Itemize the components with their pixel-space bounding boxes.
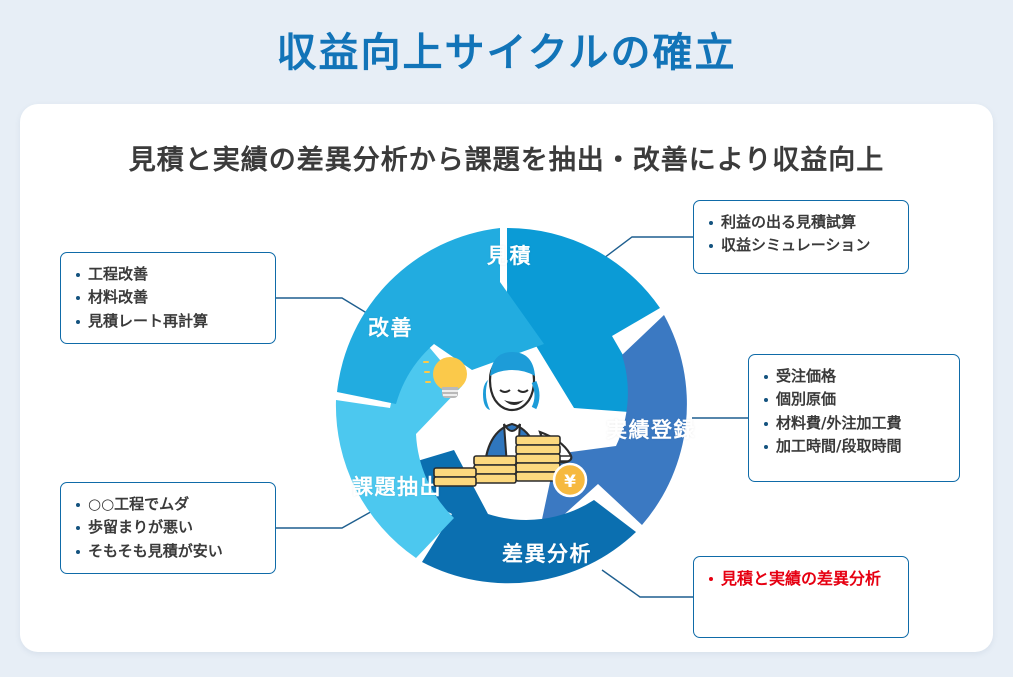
list-item: 利益の出る見積試算 xyxy=(708,211,894,234)
list-item: ○○工程でムダ xyxy=(75,493,261,516)
yen-symbol: ¥ xyxy=(564,472,576,492)
cycle-diagram: 見積 実績登録 差異分析 課題抽出 改善 xyxy=(312,218,702,608)
cycle-label-improve: 改善 xyxy=(368,312,413,342)
list-item: 見積と実績の差異分析 xyxy=(708,567,894,592)
extract-callout: ○○工程でムダ 歩留まりが悪い そもそも見積が安い xyxy=(60,482,276,574)
cycle-label-variance: 差異分析 xyxy=(502,538,592,568)
list-item: 工程改善 xyxy=(75,263,261,286)
record-callout: 受注価格 個別原価 材料費/外注加工費 加工時間/段取時間 xyxy=(748,354,960,482)
list-item: 材料費/外注加工費 xyxy=(763,412,945,435)
cycle-label-record: 実績登録 xyxy=(606,414,696,444)
content-card: 見積と実績の差異分析から課題を抽出・改善により収益向上 見積 実績登録 差異分析… xyxy=(20,104,993,652)
improve-callout: 工程改善 材料改善 見積レート再計算 xyxy=(60,252,276,344)
page-title: 収益向上サイクルの確立 xyxy=(0,20,1013,78)
list-item: 材料改善 xyxy=(75,286,261,309)
list-item: 加工時間/段取時間 xyxy=(763,435,945,458)
list-item: そもそも見積が安い xyxy=(75,540,261,563)
lightbulb-icon xyxy=(424,357,467,398)
list-item: 歩留まりが悪い xyxy=(75,516,261,539)
variance-callout: 見積と実績の差異分析 xyxy=(693,556,909,638)
list-item: 収益シミュレーション xyxy=(708,234,894,257)
subtitle: 見積と実績の差異分析から課題を抽出・改善により収益向上 xyxy=(20,138,993,177)
cycle-label-estimate: 見積 xyxy=(487,240,532,270)
list-item: 個別原価 xyxy=(763,388,945,411)
estimate-callout: 利益の出る見積試算 収益シミュレーション xyxy=(693,200,909,274)
yen-coin-icon: ¥ xyxy=(554,464,586,496)
list-item: 受注価格 xyxy=(763,365,945,388)
list-item: 見積レート再計算 xyxy=(75,310,261,333)
center-illustration: ¥ xyxy=(412,340,602,500)
